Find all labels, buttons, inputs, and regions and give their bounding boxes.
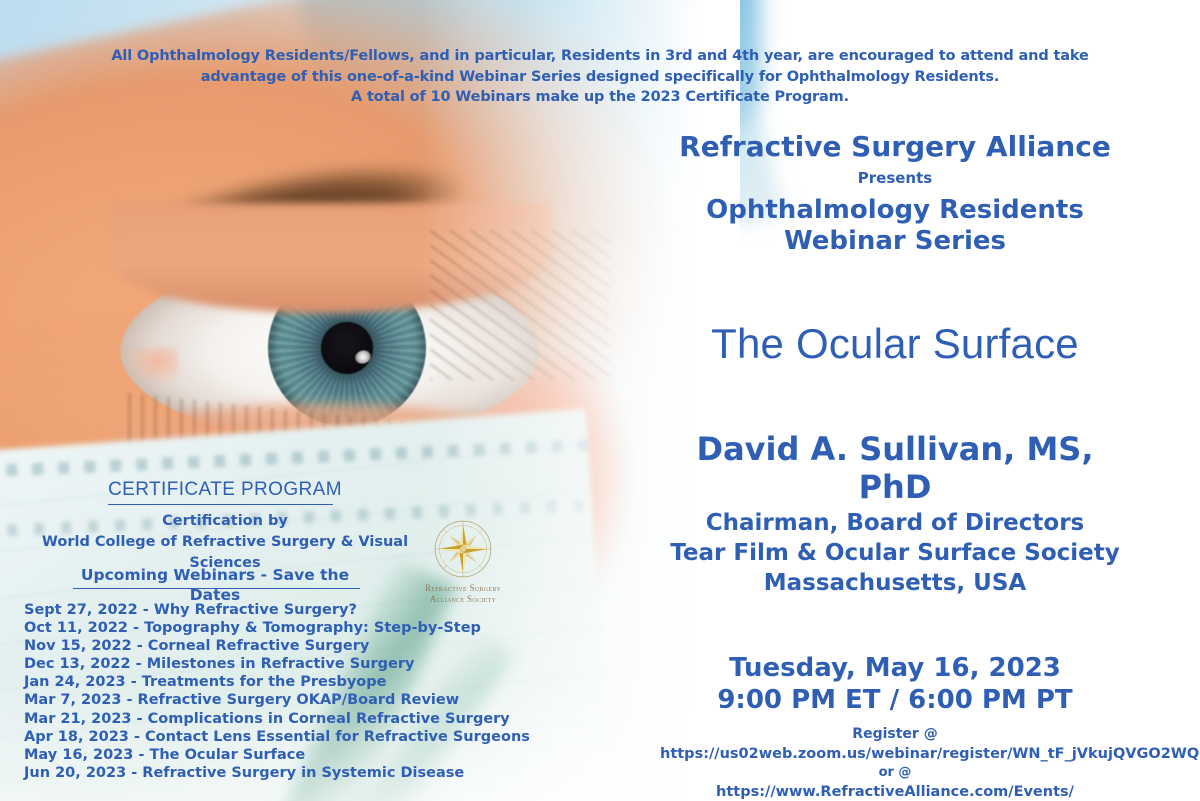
- event-datetime: Tuesday, May 16, 2023 9:00 PM ET / 6:00 …: [660, 652, 1130, 716]
- upcoming-webinars-heading: Upcoming Webinars - Save the Dates: [60, 565, 370, 605]
- list-item: Oct 11, 2022 - Topography & Tomography: …: [24, 619, 544, 637]
- certification-by-label: Certification by: [20, 511, 430, 532]
- rsa-logo: Refractive Surgery Alliance Society: [413, 518, 513, 605]
- series-title-line-2: Webinar Series: [660, 226, 1130, 257]
- event-date: Tuesday, May 16, 2023: [660, 652, 1130, 684]
- organization-name: Refractive Surgery Alliance: [660, 131, 1130, 163]
- speaker-location: Massachusetts, USA: [660, 568, 1130, 598]
- series-title: Ophthalmology Residents Webinar Series: [660, 195, 1130, 257]
- list-item: Dec 13, 2022 - Milestones in Refractive …: [24, 655, 544, 673]
- registration-url[interactable]: https://us02web.zoom.us/webinar/register…: [660, 744, 1130, 764]
- list-item: Jun 20, 2023 - Refractive Surgery in Sys…: [24, 764, 544, 782]
- register-label: Register @: [660, 725, 1130, 744]
- presents-label: Presents: [660, 169, 1130, 187]
- certificate-heading-underline: [108, 504, 333, 505]
- webinar-flyer: All Ophthalmology Residents/Fellows, and…: [0, 0, 1200, 801]
- list-item: Nov 15, 2022 - Corneal Refractive Surger…: [24, 637, 544, 655]
- alternate-url[interactable]: https://www.RefractiveAlliance.com/Event…: [660, 782, 1130, 801]
- list-item: Jan 24, 2023 - Treatments for the Presby…: [24, 673, 544, 691]
- webinar-schedule-list: Sept 27, 2022 - Why Refractive Surgery? …: [24, 601, 544, 782]
- certificate-program-heading: CERTIFICATE PROGRAM: [60, 478, 390, 502]
- logo-wordmark-line-2: Alliance Society: [413, 594, 513, 605]
- speaker-details: Chairman, Board of Directors Tear Film &…: [660, 508, 1130, 598]
- event-time: 9:00 PM ET / 6:00 PM PT: [660, 684, 1130, 716]
- logo-wordmark-line-1: Refractive Surgery: [413, 583, 513, 594]
- compass-rose-icon: [432, 518, 494, 580]
- register-or-label: or @: [660, 764, 1130, 782]
- logo-wordmark: Refractive Surgery Alliance Society: [413, 583, 513, 605]
- speaker-role: Chairman, Board of Directors: [660, 508, 1130, 538]
- upcoming-heading-underline: [73, 588, 360, 589]
- list-item: Apr 18, 2023 - Contact Lens Essential fo…: [24, 728, 544, 746]
- list-item: May 16, 2023 - The Ocular Surface: [24, 746, 544, 764]
- speaker-name: David A. Sullivan, MS, PhD: [660, 430, 1130, 506]
- series-title-line-1: Ophthalmology Residents: [660, 195, 1130, 226]
- right-column: Refractive Surgery Alliance Presents Oph…: [660, 0, 1130, 801]
- list-item: Mar 21, 2023 - Complications in Corneal …: [24, 710, 544, 728]
- list-item: Mar 7, 2023 - Refractive Surgery OKAP/Bo…: [24, 691, 544, 709]
- speaker-affiliation: Tear Film & Ocular Surface Society: [660, 538, 1130, 568]
- talk-title: The Ocular Surface: [660, 320, 1130, 368]
